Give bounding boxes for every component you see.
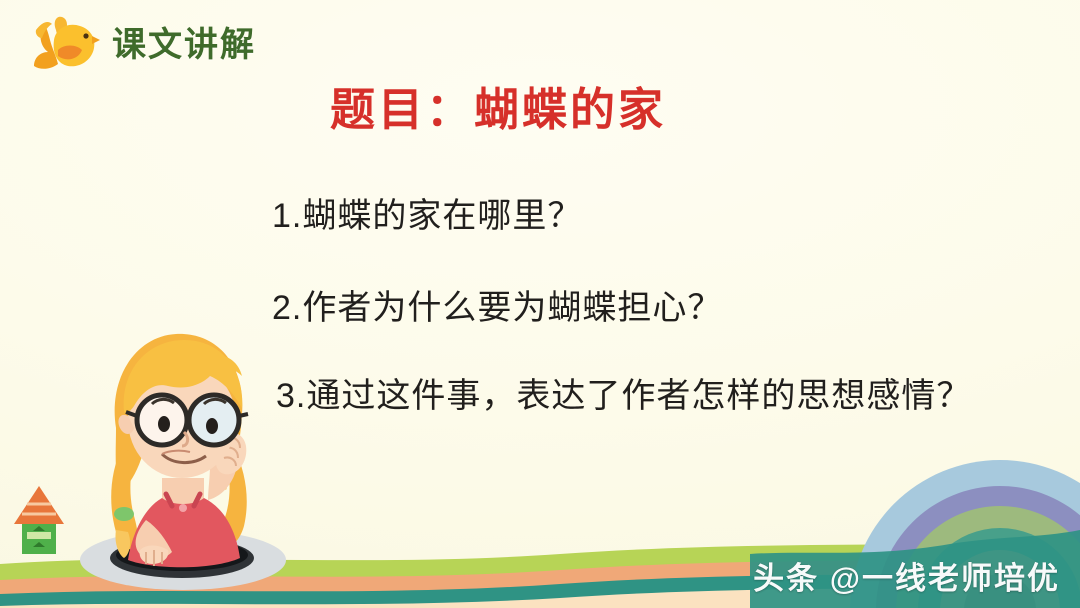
question-item-2: 2.作者为什么要为蝴蝶担心？ [272, 288, 1032, 328]
slide-header: 课文讲解 [26, 14, 256, 76]
question-item-1: 1.蝴蝶的家在哪里？ [272, 196, 1032, 236]
question-item-3: 3.通过这件事，表达了作者怎样的思想感情？ [276, 376, 1032, 416]
house-window [27, 532, 51, 539]
bird-eye [83, 33, 88, 38]
yellow-bird-icon [26, 14, 100, 76]
eye-left [158, 416, 170, 432]
glasses-temple-right [239, 414, 248, 416]
header-title: 课文讲解 [112, 28, 256, 62]
watermark-text: 头条 @一线老师培优 [753, 553, 1060, 598]
braid-left-tie [114, 507, 134, 521]
eye-right [206, 418, 218, 434]
dress-button [179, 504, 187, 512]
girl-illustration [58, 308, 288, 598]
slide-canvas: 课文讲解 题目：蝴蝶的家 1.蝴蝶的家在哪里？ 2.作者为什么要为蝴蝶担心？ 3… [0, 0, 1080, 608]
bird-beak [92, 36, 100, 44]
bird-body [54, 25, 95, 67]
lesson-title: 题目：蝴蝶的家 [330, 84, 666, 136]
question-list: 1.蝴蝶的家在哪里？ 2.作者为什么要为蝴蝶担心？ 3.通过这件事，表达了作者怎… [272, 196, 1032, 416]
